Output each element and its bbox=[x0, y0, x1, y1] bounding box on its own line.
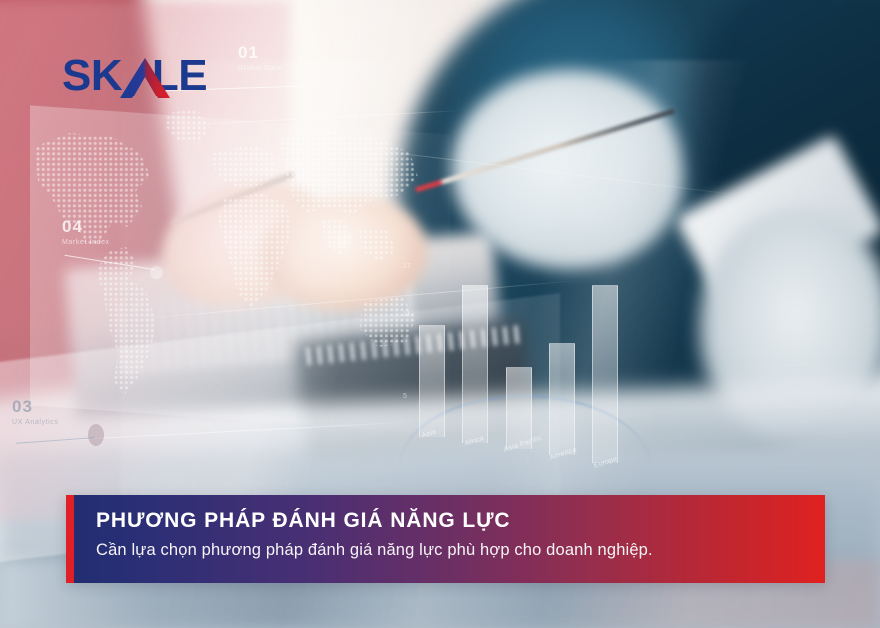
promotional-banner-image: 01 Global Data 04 Market Index 03 UX Ana… bbox=[0, 0, 880, 628]
banner-subtitle: Cần lựa chọn phương pháp đánh giá năng l… bbox=[96, 541, 825, 561]
skale-logo-text-before: SK bbox=[62, 51, 122, 100]
skale-logo[interactable]: SKALE bbox=[62, 52, 242, 100]
banner-title: PHƯƠNG PHÁP ĐÁNH GIÁ NĂNG LỰC bbox=[96, 509, 825, 532]
skale-logo-chevron-icon bbox=[118, 56, 172, 100]
promo-banner: PHƯƠNG PHÁP ĐÁNH GIÁ NĂNG LỰC Cần lựa ch… bbox=[66, 495, 825, 583]
banner-content: PHƯƠNG PHÁP ĐÁNH GIÁ NĂNG LỰC Cần lựa ch… bbox=[74, 495, 825, 583]
banner-accent-bar bbox=[66, 495, 74, 583]
